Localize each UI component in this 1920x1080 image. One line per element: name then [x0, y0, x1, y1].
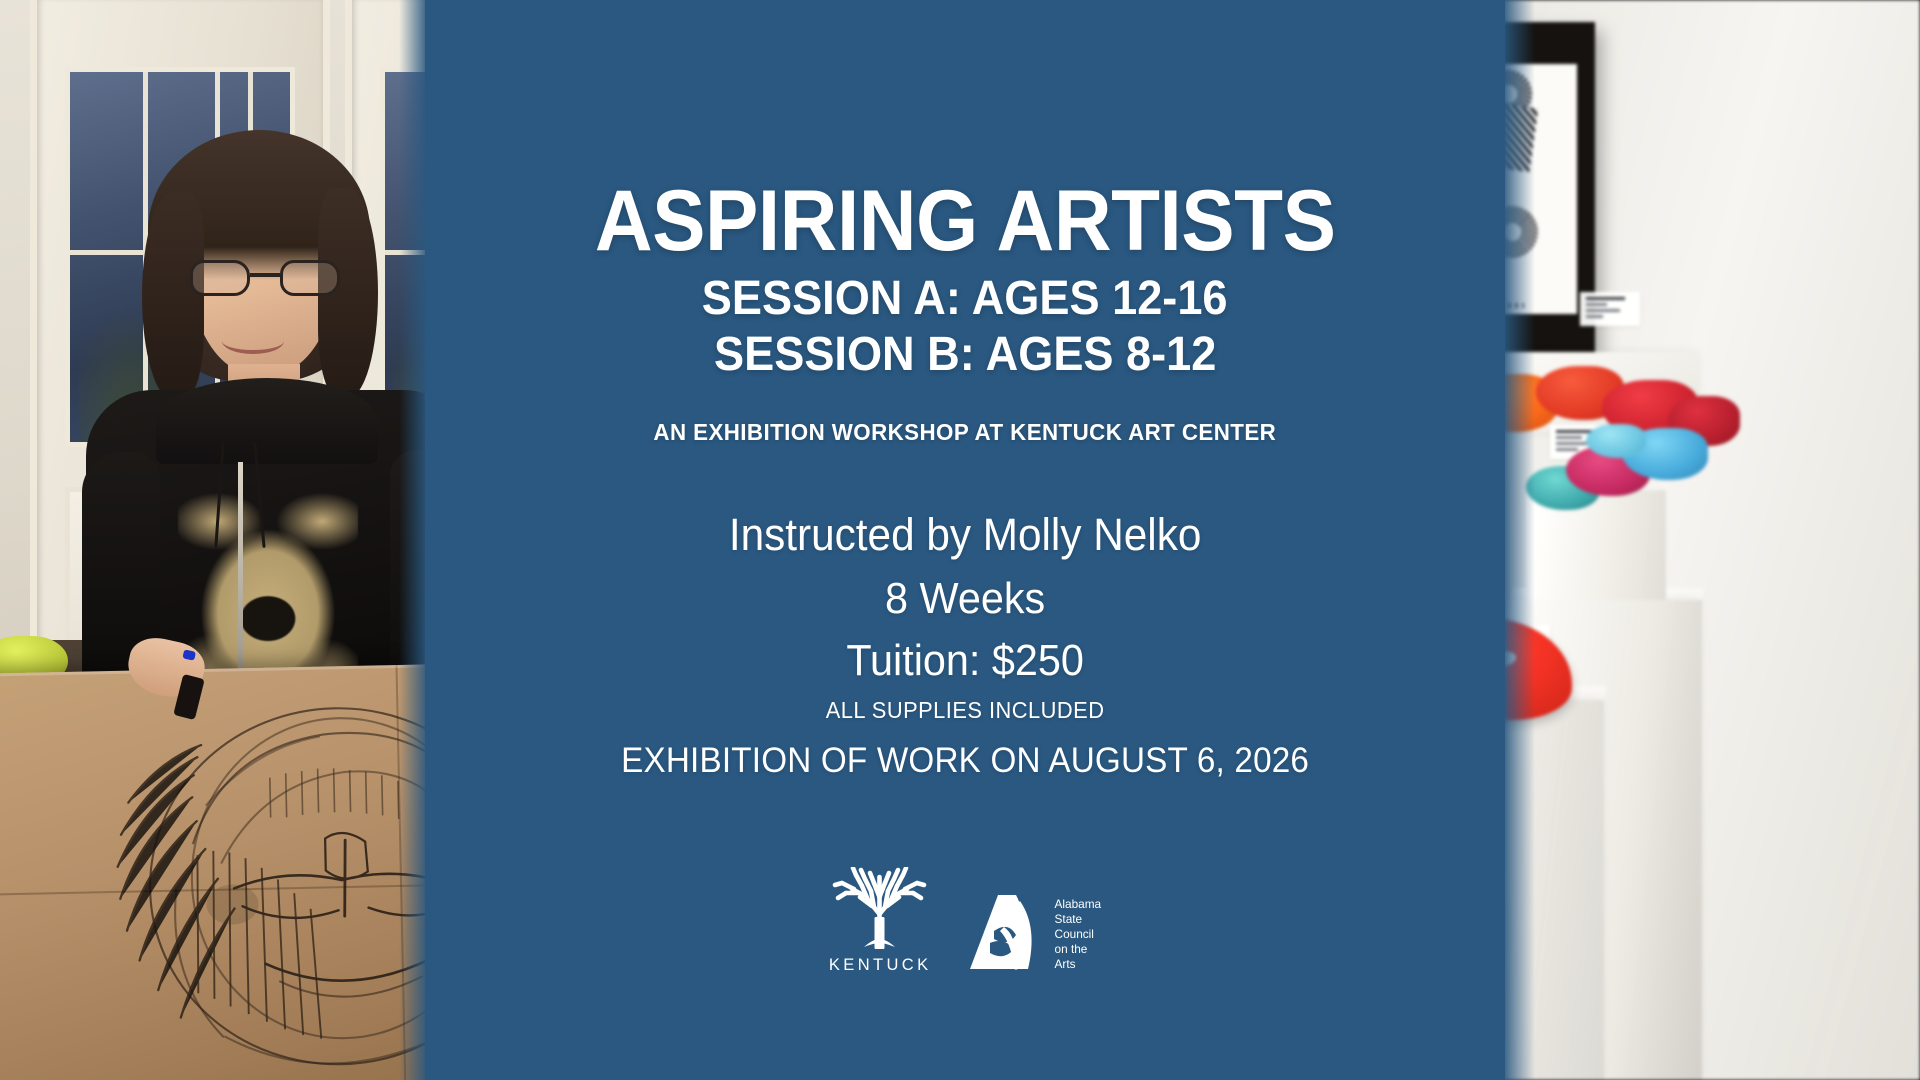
exhibition-date-line: EXHIBITION OF WORK ON AUGUST 6, 2026 [621, 741, 1309, 781]
tree-icon [832, 867, 928, 953]
eyeglasses-icon [190, 260, 340, 300]
hoodie-hood [156, 378, 378, 464]
wall-label [1580, 292, 1640, 326]
flyer-canvas: ASPIRING ARTISTS SESSION A: AGES 12-16 S… [0, 0, 1920, 1080]
fingernail-blue [182, 649, 196, 660]
asca-line-3: Council [1055, 927, 1102, 942]
asca-wordmark: Alabama State Council on the Arts [1055, 897, 1102, 974]
details-block: Instructed by Molly Nelko 8 Weeks Tuitio… [603, 509, 1327, 780]
info-panel: ASPIRING ARTISTS SESSION A: AGES 12-16 S… [425, 0, 1505, 1080]
session-b-line: SESSION B: AGES 8-12 [714, 327, 1216, 383]
asca-line-1: Alabama [1055, 897, 1102, 912]
sculpture-segment [1586, 424, 1646, 458]
asca-logo: Alabama State Council on the Arts [964, 891, 1102, 975]
duration-line: 8 Weeks [625, 574, 1306, 624]
page-title: ASPIRING ARTISTS [595, 178, 1336, 264]
asca-line-4: on the [1055, 942, 1102, 957]
kentuck-wordmark: KENTUCK [829, 956, 932, 975]
sponsor-logos: KENTUCK [829, 867, 1101, 975]
mouth-smile [222, 328, 284, 354]
asca-line-2: State [1055, 912, 1102, 927]
glasses-bridge [250, 273, 280, 277]
sculpture-cool-creature [1526, 424, 1712, 520]
panel-right-fade [1501, 0, 1535, 1080]
asca-line-5: Arts [1055, 957, 1102, 972]
asca-monogram-icon [964, 891, 1048, 975]
session-a-line: SESSION A: AGES 12-16 [702, 271, 1228, 327]
tuition-line: Tuition: $250 [625, 636, 1306, 686]
instructor-line: Instructed by Molly Nelko [625, 509, 1306, 561]
workshop-subtitle: AN EXHIBITION WORKSHOP AT KENTUCK ART CE… [654, 419, 1277, 446]
lens-left [190, 260, 250, 296]
lens-right [280, 260, 340, 296]
kentuck-logo: KENTUCK [829, 867, 932, 975]
supplies-note: ALL SUPPLIES INCLUDED [621, 697, 1309, 724]
panel-content: ASPIRING ARTISTS SESSION A: AGES 12-16 S… [425, 0, 1505, 1080]
